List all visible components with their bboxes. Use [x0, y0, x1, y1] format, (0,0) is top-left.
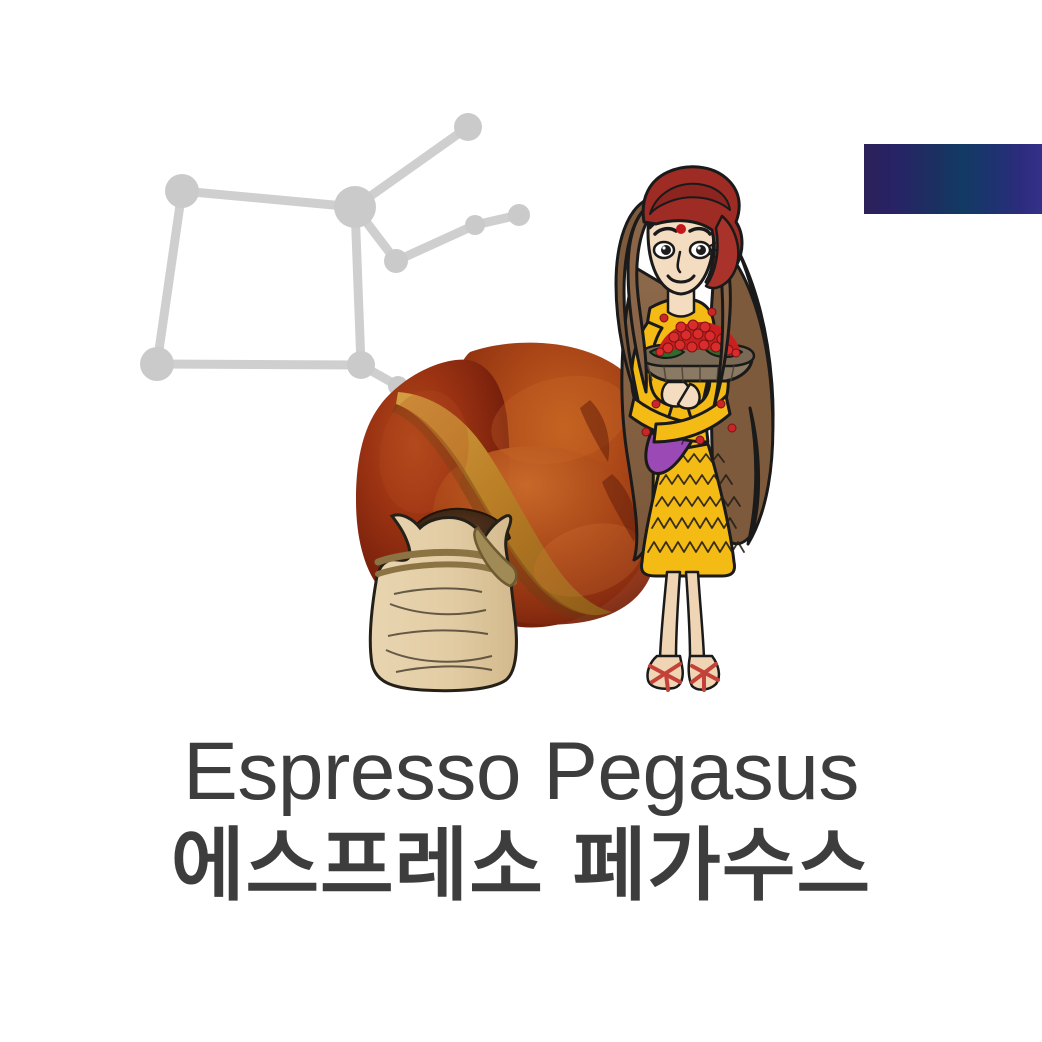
constellation-edge — [355, 207, 361, 365]
star-markab — [140, 347, 174, 381]
constellation-edge — [157, 364, 361, 365]
title-block: Espresso Pegasus 에스프레소 페가수스 — [0, 726, 1042, 914]
leg-left — [660, 572, 680, 658]
star-matar — [454, 113, 482, 141]
star-scheat — [165, 174, 199, 208]
constellation-edge — [396, 225, 475, 261]
star-algenib — [347, 351, 375, 379]
coffee-farmer-woman — [616, 167, 773, 690]
star-biham — [465, 215, 485, 235]
page-title-korean: 에스프레소 페가수스 — [0, 818, 1042, 914]
page-title-english: Espresso Pegasus — [0, 726, 1042, 818]
constellation-edge — [182, 191, 355, 207]
star-alpheratz — [334, 186, 376, 228]
pupil-left — [661, 245, 671, 255]
poster-canvas: Espresso Pegasus 에스프레소 페가수스 — [0, 0, 1042, 1042]
constellation-edge — [157, 191, 182, 364]
eye-glint-left — [662, 246, 665, 249]
pupil-right — [696, 245, 706, 255]
pegasus-constellation — [157, 127, 519, 386]
artwork-illustration — [0, 0, 1042, 730]
eye-glint-right — [697, 246, 700, 249]
star-enif — [508, 204, 530, 226]
bindi — [676, 224, 686, 234]
leg-right — [686, 572, 704, 658]
star-homam — [384, 249, 408, 273]
